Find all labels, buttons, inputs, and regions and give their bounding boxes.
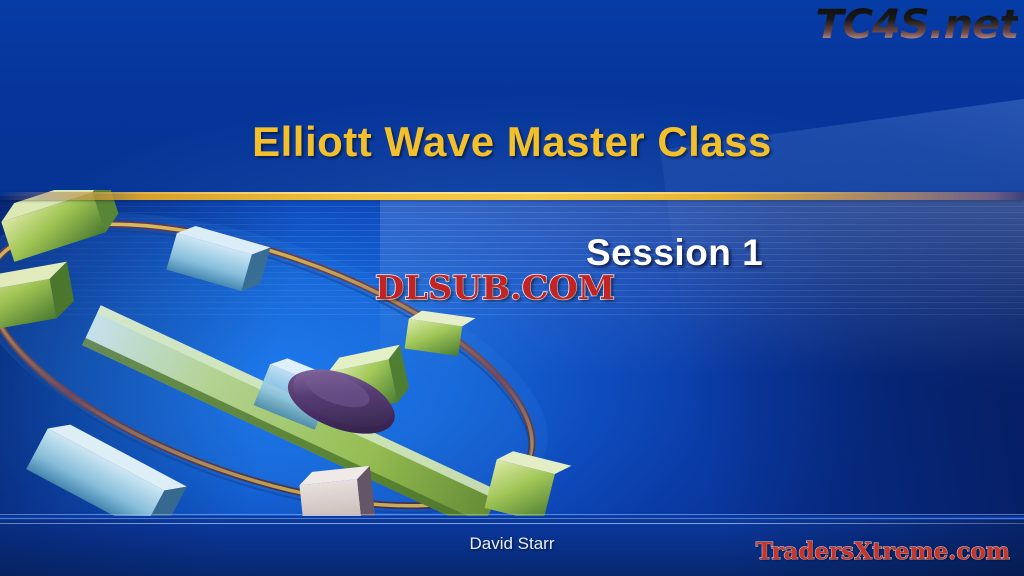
watermark-tc4s: TC4S.net — [815, 2, 1018, 48]
page-title: Elliott Wave Master Class — [0, 118, 1024, 166]
watermark-tradersxtreme: TradersXtreme.com — [756, 538, 1010, 565]
presentation-slide: Elliott Wave Master Class Session 1 Davi… — [0, 0, 1024, 576]
watermark-dlsub: DLSUB.COM — [375, 268, 615, 307]
gold-divider-highlight — [0, 192, 1024, 194]
